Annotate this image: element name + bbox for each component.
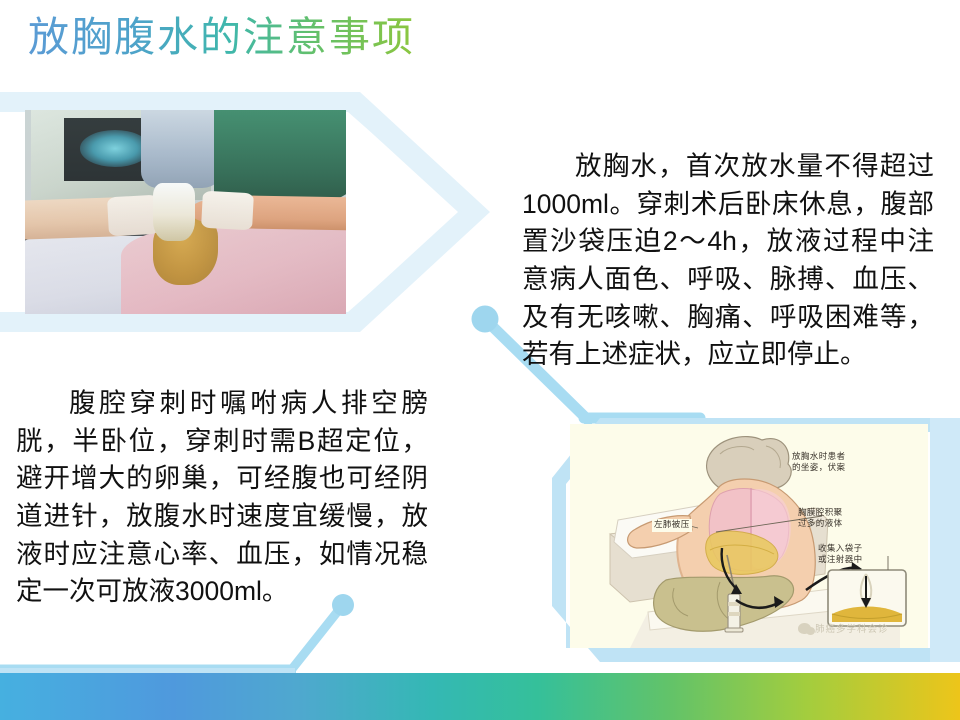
body-text-left: 腹腔穿刺时嘱咐病人排空膀胱，半卧位，穿刺时需B超定位，避开增大的卵巢，可经腹也可…: [16, 385, 428, 611]
pin-dot-upper: [472, 306, 499, 333]
page-title: 放胸腹水的注意事项: [28, 14, 415, 61]
illustration-label-compressed-lung: 左肺被压: [652, 519, 692, 532]
illustration-drawing: [570, 424, 928, 648]
wechat-icon: [798, 623, 811, 634]
slide-canvas: 放胸腹水的注意事项: [0, 0, 960, 720]
thoracentesis-illustration: 放胸水时患者 的坐姿，伏案 胸膜腔积聚 过多的液体 收集入袋子 或注射器中 左肺…: [570, 424, 928, 648]
illustration-label-collection: 收集入袋子 或注射器中: [818, 544, 863, 567]
illustration-label-posture: 放胸水时患者 的坐姿，伏案: [792, 452, 845, 475]
body-text-right: 放胸水，首次放水量不得超过1000ml。穿刺术后卧床休息，腹部置沙袋压迫2～4h…: [522, 148, 934, 374]
footer-gradient-bar: [0, 673, 960, 720]
illustration-label-fluid: 胸膜腔积聚 过多的液体: [798, 508, 843, 531]
watermark: 肺癌多学科会诊: [798, 621, 889, 635]
clinical-procedure-photo: [25, 110, 346, 314]
watermark-text: 肺癌多学科会诊: [815, 621, 889, 635]
